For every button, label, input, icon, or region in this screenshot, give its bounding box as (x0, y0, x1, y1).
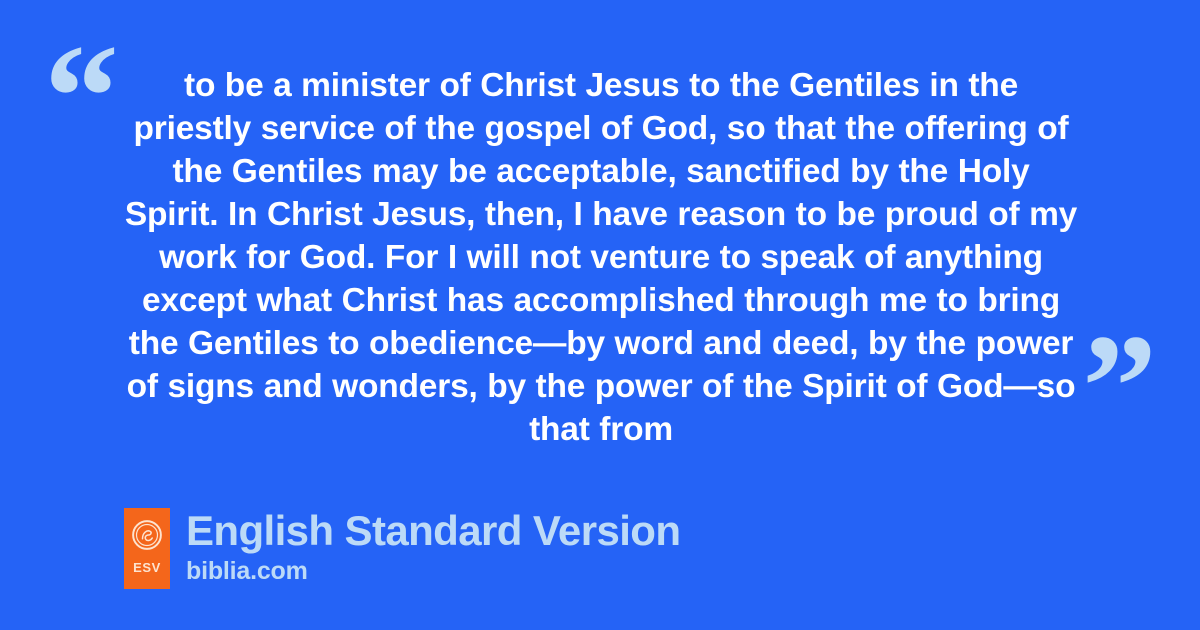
bible-version-title: English Standard Version (186, 508, 680, 554)
esv-seal-icon (132, 520, 162, 550)
brand-text: English Standard Version biblia.com (186, 508, 680, 585)
quote-card: “ to be a minister of Christ Jesus to th… (0, 0, 1200, 630)
opening-quotation-mark-icon: “ (44, 22, 117, 172)
esv-abbreviation-label: ESV (133, 561, 161, 574)
esv-logo: ESV (124, 508, 170, 589)
quote-text: to be a minister of Christ Jesus to the … (124, 64, 1078, 451)
site-url-label[interactable]: biblia.com (186, 557, 680, 585)
quote-block: “ to be a minister of Christ Jesus to th… (0, 0, 1200, 440)
closing-quotation-mark-icon: ” (1082, 312, 1155, 462)
branding: ESV English Standard Version biblia.com (124, 508, 680, 589)
